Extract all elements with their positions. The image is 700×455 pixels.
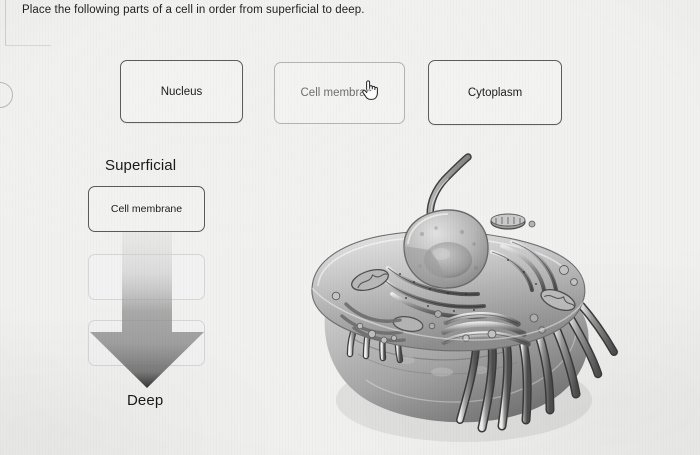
animal-cell-diagram-icon: [296, 148, 626, 450]
question-prompt: Place the following parts of a cell in o…: [22, 4, 365, 16]
pointing-hand-cursor-icon: [360, 79, 380, 101]
drop-slot-2[interactable]: [88, 254, 205, 300]
partial-circle-icon: [0, 82, 13, 108]
ordering-top-label: Superficial: [105, 157, 176, 174]
source-tile-cell-membrane[interactable]: Cell membrane: [274, 62, 405, 124]
source-tile-nucleus[interactable]: Nucleus: [120, 60, 243, 123]
drop-slot-1[interactable]: Cell membrane: [88, 186, 205, 232]
source-tile-label: Cytoplasm: [468, 87, 522, 99]
source-tile-label: Nucleus: [161, 86, 203, 98]
left-panel-edge-rule: [5, 0, 6, 46]
source-tile-cytoplasm[interactable]: Cytoplasm: [428, 60, 562, 125]
drop-slot-label: Cell membrane: [111, 203, 182, 215]
drop-slot-3[interactable]: [88, 320, 205, 366]
ordering-bottom-label: Deep: [127, 392, 163, 409]
left-panel-edge-rule-bottom: [5, 45, 51, 46]
